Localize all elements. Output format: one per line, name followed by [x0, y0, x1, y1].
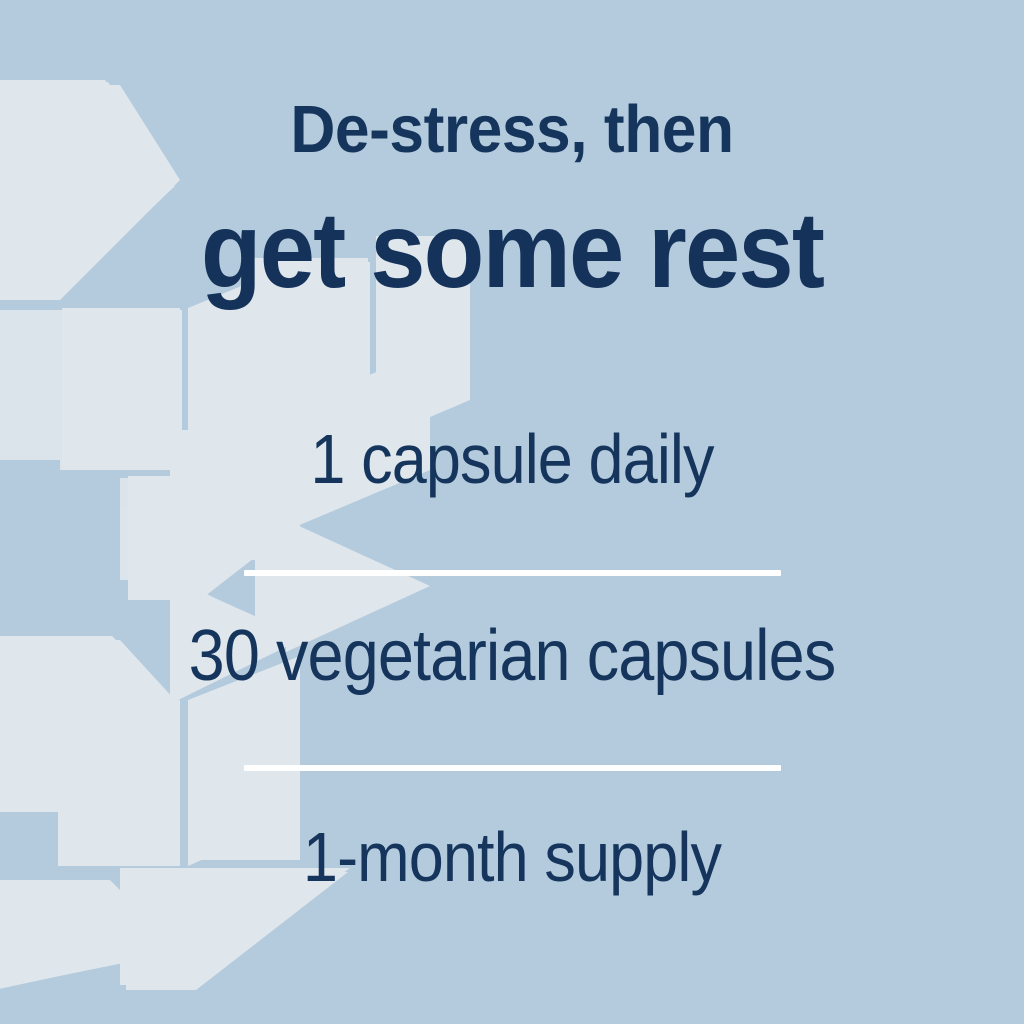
product-promo-card: De-stress, then get some rest 1 capsule … [0, 0, 1024, 1024]
spec-supply-duration: 1-month supply [51, 822, 973, 892]
divider-top [244, 570, 781, 576]
divider-bottom [244, 765, 781, 771]
promo-content: De-stress, then get some rest 1 capsule … [0, 0, 1024, 1024]
headline-main: get some rest [41, 196, 983, 304]
spec-capsule-count: 30 vegetarian capsules [51, 620, 973, 692]
spec-dosage: 1 capsule daily [51, 424, 973, 494]
headline-eyebrow: De-stress, then [36, 96, 988, 163]
